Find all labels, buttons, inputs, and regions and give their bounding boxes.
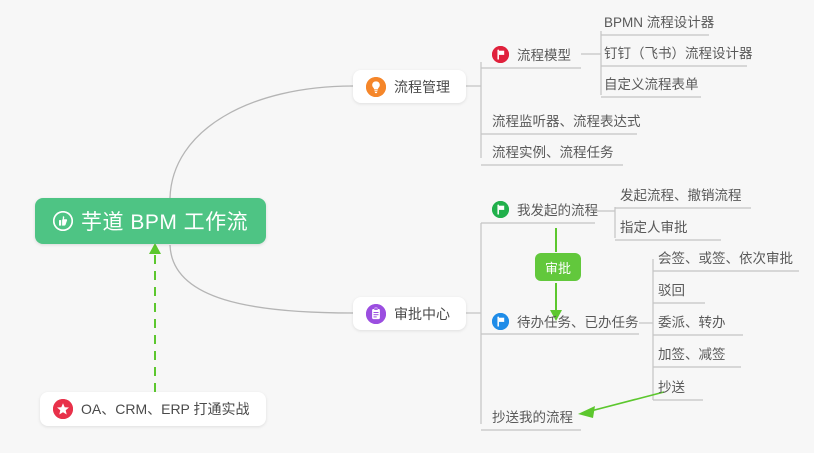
node-instance-task[interactable]: 流程实例、流程任务 <box>492 138 622 164</box>
root-node[interactable]: 芋道 BPM 工作流 <box>35 198 266 244</box>
node-label: 流程监听器、流程表达式 <box>492 110 641 130</box>
branch-label: 流程管理 <box>394 77 450 97</box>
flag-icon <box>492 313 509 330</box>
node-label: 会签、或签、依次审批 <box>658 247 793 267</box>
node-todo-done-tasks[interactable]: 待办任务、已办任务 <box>492 308 647 334</box>
annotation-arrow-cc-to-ccmine <box>583 392 664 413</box>
node-label: 指定人审批 <box>620 216 688 236</box>
node-delegate-transfer[interactable]: 委派、转办 <box>658 308 734 334</box>
node-reject[interactable]: 驳回 <box>658 276 693 302</box>
edge-root-to-process-management <box>170 86 353 198</box>
chip-label: 审批 <box>545 258 571 277</box>
node-label: 我发起的流程 <box>517 199 598 219</box>
node-bpmn-designer[interactable]: BPMN 流程设计器 <box>604 8 722 34</box>
node-label: 驳回 <box>658 279 685 299</box>
flag-icon <box>492 46 509 63</box>
node-add-remove-sign[interactable]: 加签、减签 <box>658 340 734 366</box>
node-dingtalk-feishu-designer[interactable]: 钉钉（飞书）流程设计器 <box>604 39 761 65</box>
node-label: 待办任务、已办任务 <box>517 311 639 331</box>
branch-approval-center[interactable]: 审批中心 <box>353 297 466 330</box>
clipboard-icon <box>366 304 386 324</box>
root-label: 芋道 BPM 工作流 <box>81 206 248 236</box>
node-custom-process-form[interactable]: 自定义流程表单 <box>604 70 707 96</box>
lightbulb-icon <box>366 77 386 97</box>
node-process-model[interactable]: 流程模型 <box>492 41 579 67</box>
floating-node-label: OA、CRM、ERP 打通实战 <box>81 399 250 419</box>
annotation-arrowhead-up <box>149 243 161 254</box>
approval-chip[interactable]: 审批 <box>535 253 581 281</box>
mindmap-canvas: 芋道 BPM 工作流 流程管理 流程模型 BPMN 流程设计器 钉钉（飞书 <box>0 0 814 453</box>
edge-root-to-approval-center <box>170 245 353 313</box>
node-label: 流程模型 <box>517 44 571 64</box>
node-label: BPMN 流程设计器 <box>604 11 714 31</box>
node-my-initiated[interactable]: 我发起的流程 <box>492 196 606 222</box>
flag-icon <box>492 201 509 218</box>
node-countersign[interactable]: 会签、或签、依次审批 <box>658 244 801 270</box>
floating-node-oa-crm-erp[interactable]: OA、CRM、ERP 打通实战 <box>40 392 266 426</box>
node-start-cancel[interactable]: 发起流程、撤销流程 <box>620 181 750 207</box>
node-label: 加签、减签 <box>658 343 726 363</box>
branch-label: 审批中心 <box>394 304 450 324</box>
node-label: 自定义流程表单 <box>604 73 699 93</box>
star-icon <box>53 399 73 419</box>
node-cc[interactable]: 抄送 <box>658 373 693 399</box>
node-label: 委派、转办 <box>658 311 726 331</box>
thumbs-up-icon <box>53 211 73 231</box>
branch-process-management[interactable]: 流程管理 <box>353 70 466 103</box>
node-assignee-approval[interactable]: 指定人审批 <box>620 213 696 239</box>
node-label: 抄送我的流程 <box>492 406 573 426</box>
node-cc-to-me[interactable]: 抄送我的流程 <box>492 403 581 429</box>
node-label: 发起流程、撤销流程 <box>620 184 742 204</box>
node-label: 抄送 <box>658 376 685 396</box>
node-label: 流程实例、流程任务 <box>492 141 614 161</box>
node-listener-expression[interactable]: 流程监听器、流程表达式 <box>492 107 649 133</box>
node-label: 钉钉（飞书）流程设计器 <box>604 42 753 62</box>
